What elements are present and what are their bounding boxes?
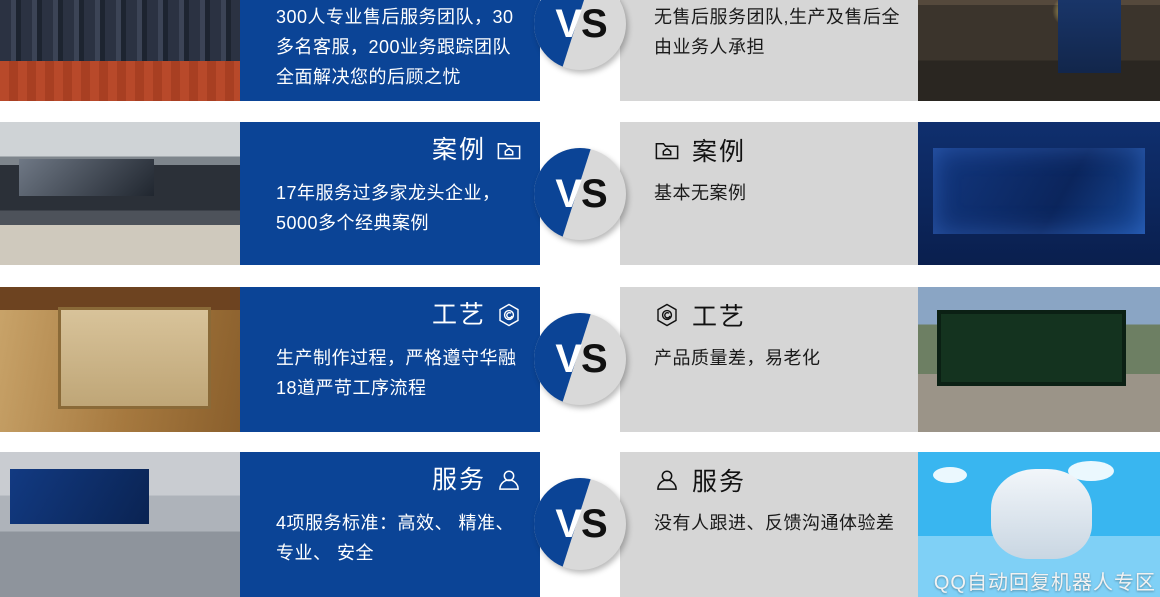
vs-letter-v: V <box>555 2 581 47</box>
vs-letter-s: S <box>581 172 607 217</box>
left-photo-worker-assembly <box>0 287 240 432</box>
con-heading-text: 案例 <box>692 132 746 168</box>
con-panel-aftersales: 售后 无售后服务团队,生产及售后全由业务人承担 <box>620 0 918 101</box>
con-panel-cases: 案例 基本无案例 <box>620 122 918 265</box>
pro-heading-text: 服务 <box>432 452 486 508</box>
con-body-aftersales: 无售后服务团队,生产及售后全由业务人承担 <box>654 2 900 62</box>
user-service-icon <box>496 467 522 493</box>
right-photo-signboard <box>918 287 1160 432</box>
pro-body-craft: 生产制作过程，严格遵守华融18道严苛工序流程 <box>274 343 522 403</box>
watermark: QQ自动回复机器人专区 <box>934 566 1156 595</box>
folder-home-icon <box>654 137 680 163</box>
comparison-board: 售后 300人专业售后服务团队，30多名客服，200业务跟踪团队全面解决您的后顾… <box>0 0 1160 597</box>
con-body-craft: 产品质量差，易老化 <box>654 343 900 373</box>
vs-label: VS <box>534 148 626 240</box>
comparison-row-cases: 案例 17年服务过多家龙头企业，5000多个经典案例 VS <box>0 122 1160 265</box>
vs-badge-cases: VS <box>534 148 626 240</box>
comparison-row-craft: 工艺 生产制作过程，严格遵守华融18道严苛工序流程 VS <box>0 287 1160 432</box>
vs-letter-v: V <box>555 337 581 382</box>
pro-heading-service: 服务 <box>274 452 522 508</box>
vs-badge-service: VS <box>534 478 626 570</box>
vs-badge-craft: VS <box>534 313 626 405</box>
con-body-cases: 基本无案例 <box>654 178 900 208</box>
right-photo-welding <box>918 0 1160 101</box>
pro-heading-text: 工艺 <box>432 287 486 343</box>
con-panel-service: 服务 没有人跟进、反馈沟通体验差 <box>620 452 918 597</box>
pro-panel-aftersales: 售后 300人专业售后服务团队，30多名客服，200业务跟踪团队全面解决您的后顾… <box>240 0 540 101</box>
pro-panel-service: 服务 4项服务标准：高效、 精准、 专业、 安全 <box>240 452 540 597</box>
pro-body-service: 4项服务标准：高效、 精准、 专业、 安全 <box>274 508 522 568</box>
pro-body-cases: 17年服务过多家龙头企业，5000多个经典案例 <box>274 178 522 238</box>
comparison-row-aftersales: 售后 300人专业售后服务团队，30多名客服，200业务跟踪团队全面解决您的后顾… <box>0 0 1160 101</box>
pro-heading-craft: 工艺 <box>274 287 522 343</box>
hexagon-gear-icon <box>496 302 522 328</box>
vs-letter-v: V <box>555 172 581 217</box>
vs-letter-s: S <box>581 2 607 47</box>
con-heading-service: 服务 <box>654 452 900 508</box>
pro-panel-craft: 工艺 生产制作过程，严格遵守华融18道严苛工序流程 <box>240 287 540 432</box>
vs-badge-aftersales: VS <box>534 0 626 70</box>
vs-label: VS <box>534 478 626 570</box>
left-photo-control-room <box>0 122 240 265</box>
vs-label: VS <box>534 0 626 70</box>
con-heading-text: 工艺 <box>692 297 746 333</box>
con-panel-craft: 工艺 产品质量差，易老化 <box>620 287 918 432</box>
folder-home-icon <box>496 137 522 163</box>
con-heading-cases: 案例 <box>654 122 900 178</box>
user-service-icon <box>654 467 680 493</box>
left-photo-office-install <box>0 452 240 597</box>
vs-letter-s: S <box>581 337 607 382</box>
con-heading-craft: 工艺 <box>654 287 900 343</box>
hexagon-gear-icon <box>654 302 680 328</box>
right-photo-led-screen <box>918 122 1160 265</box>
vs-letter-s: S <box>581 502 607 547</box>
pro-panel-cases: 案例 17年服务过多家龙头企业，5000多个经典案例 <box>240 122 540 265</box>
con-heading-text: 服务 <box>692 462 746 498</box>
vs-label: VS <box>534 313 626 405</box>
pro-heading-cases: 案例 <box>274 122 522 178</box>
vs-letter-v: V <box>555 502 581 547</box>
pro-heading-text: 案例 <box>432 122 486 178</box>
con-body-service: 没有人跟进、反馈沟通体验差 <box>654 508 900 538</box>
pro-body-aftersales: 300人专业售后服务团队，30多名客服，200业务跟踪团队全面解决您的后顾之忧 <box>274 2 522 92</box>
left-photo-team <box>0 0 240 101</box>
